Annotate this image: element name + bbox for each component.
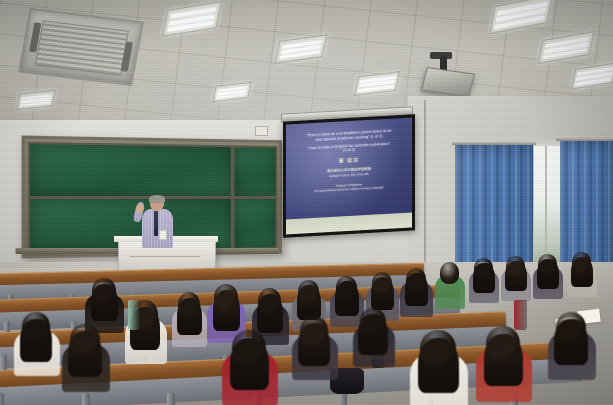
presenter-name-badge [159,230,167,240]
audience-member-head [70,324,100,356]
window-curtain-left[interactable] [455,143,533,271]
chalkboard-panel-top-left [28,142,233,198]
bench-leg [0,393,4,405]
presenter-tie [154,211,158,236]
chalkboard-panel-top-right [233,145,278,198]
wall-light-switch[interactable] [255,126,268,136]
bench-leg [339,393,347,405]
audience-member-head [420,330,456,368]
ceiling-air-conditioner-icon [18,8,144,87]
water-bottle [128,300,141,330]
audience-member-head [22,312,50,342]
audience-member-head [92,278,116,304]
daylight-window [533,146,562,271]
wall-corner-edge [424,100,426,285]
audience-member-head [360,308,386,336]
audience-member-head [406,268,426,291]
audience-member-head [486,326,520,362]
presenter-hair [149,195,165,203]
slide-content: "How to make an oral academic presentati… [286,127,412,195]
audience-member-head [178,292,200,318]
window-mullion [545,146,547,271]
audience-member-head [336,276,357,300]
audience-member-head [474,258,493,279]
bench-leg [167,393,175,405]
audience-member-head [214,284,238,312]
audience-member-head [538,254,557,275]
bench-leg [82,393,90,405]
lecture-hall-photo: "How to make an oral academic presentati… [0,0,613,405]
audience-member-head [572,252,591,273]
audience-member-head [258,288,281,315]
audience-member-head [232,330,266,366]
chalkboard-panel-bottom-right [233,197,278,250]
ac-grille [35,20,129,76]
audience-member-head [440,262,459,284]
water-bottle [514,300,527,330]
curtain-rod-right [556,138,613,141]
curtain-rod-left [452,142,536,145]
audience-member-head [300,316,328,346]
lectern-panel-seam [130,256,200,257]
window-curtain-right[interactable] [560,140,613,270]
presenter-speaker [134,196,178,248]
audience-member-head [556,312,586,344]
projection-screen: "How to make an oral academic presentati… [283,114,415,237]
audience-member-head [372,272,392,295]
audience-member-head [506,256,525,277]
audience-member-head [298,280,319,304]
